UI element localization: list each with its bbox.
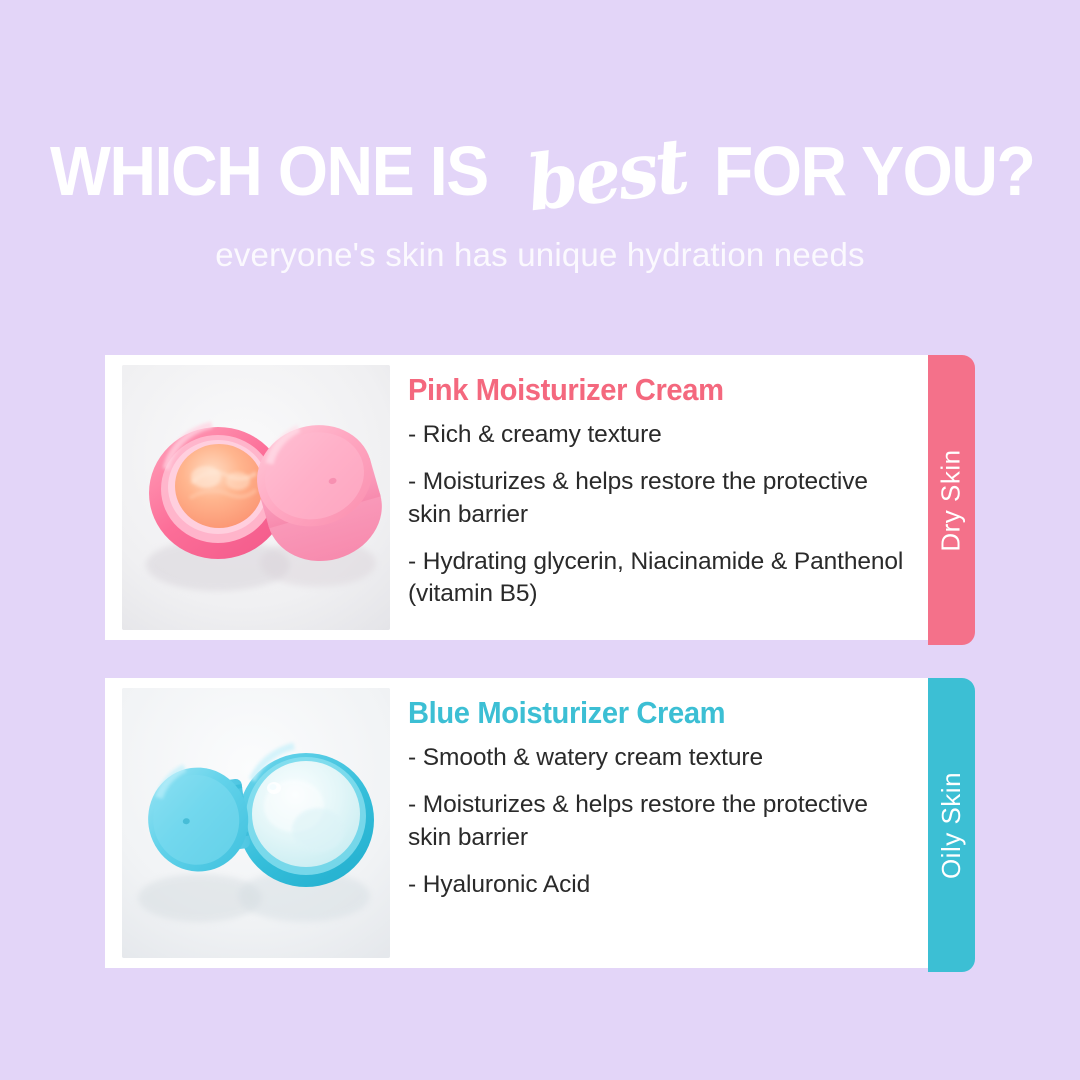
product-card-pink[interactable]: Pink Moisturizer Cream - Rich & creamy t… <box>105 355 935 640</box>
headline-script-word: best <box>523 123 691 228</box>
product-details-blue: Blue Moisturizer Cream - Smooth & watery… <box>390 678 935 916</box>
page-subtitle: everyone's skin has unique hydration nee… <box>0 236 1080 274</box>
pink-jar-illustration <box>122 365 390 630</box>
product-title-pink: Pink Moisturizer Cream <box>408 373 881 407</box>
product-bullet: - Hydrating glycerin, Niacinamide & Pant… <box>408 546 911 611</box>
blue-jar-illustration <box>122 688 390 958</box>
skin-type-tab-oily[interactable]: Oily Skin <box>928 678 975 972</box>
product-bullet: - Smooth & watery cream texture <box>408 742 911 774</box>
product-bullet: - Hyaluronic Acid <box>408 869 911 901</box>
skin-type-tab-label: Dry Skin <box>936 449 967 551</box>
header: WHICH ONE ISbestFOR YOU? everyone's skin… <box>0 0 1080 274</box>
product-card-blue[interactable]: Blue Moisturizer Cream - Smooth & watery… <box>105 678 935 968</box>
product-photo-pink <box>122 365 390 630</box>
product-bullet: - Moisturizes & helps restore the protec… <box>408 789 911 854</box>
product-details-pink: Pink Moisturizer Cream - Rich & creamy t… <box>390 355 935 626</box>
product-title-blue: Blue Moisturizer Cream <box>408 696 881 730</box>
skin-type-tab-label: Oily Skin <box>936 771 967 878</box>
product-photo-blue <box>122 688 390 958</box>
product-bullet: - Moisturizes & helps restore the protec… <box>408 466 911 531</box>
page-title: WHICH ONE ISbestFOR YOU? <box>0 128 1080 214</box>
skin-type-tab-dry[interactable]: Dry Skin <box>928 355 975 645</box>
headline-prefix: WHICH ONE IS <box>50 128 488 214</box>
product-bullet: - Rich & creamy texture <box>408 419 911 451</box>
headline-suffix: FOR YOU? <box>714 128 1035 214</box>
